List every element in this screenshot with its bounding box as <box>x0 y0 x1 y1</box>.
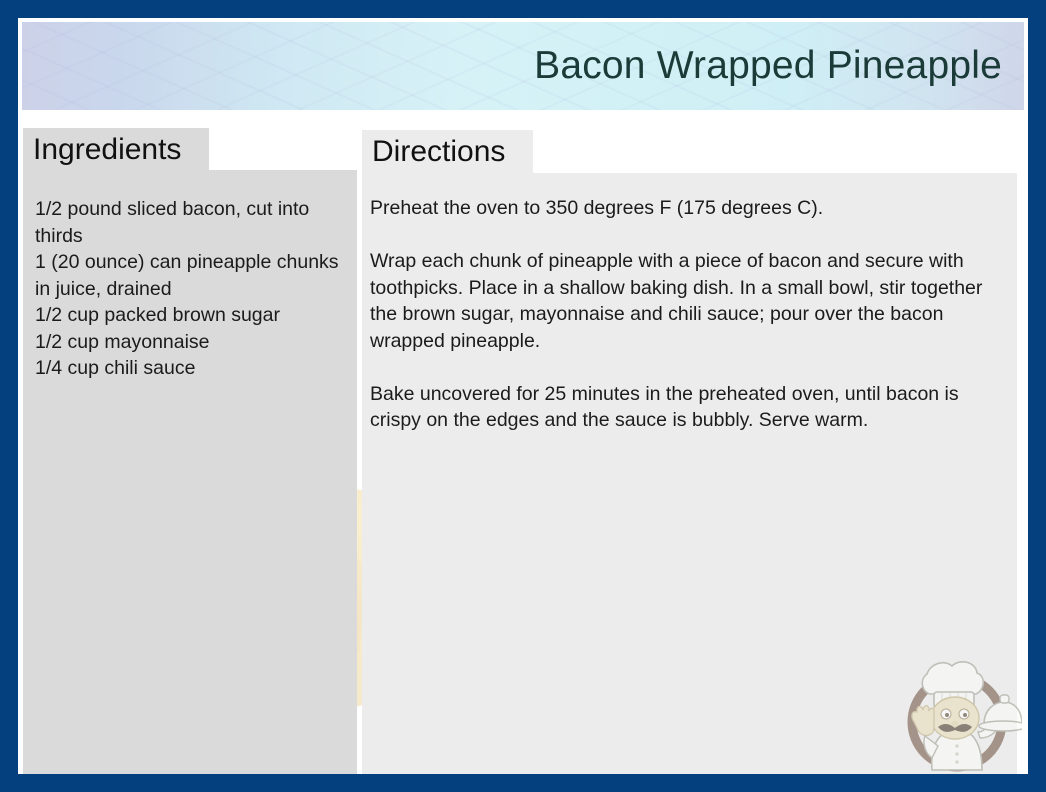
chef-mascot-logo <box>892 642 1022 774</box>
ingredients-list: 1/2 pound sliced bacon, cut into thirds … <box>35 196 345 382</box>
title-banner: Bacon Wrapped Pineapple <box>22 22 1024 110</box>
ingredients-heading: Ingredients <box>23 128 209 172</box>
recipe-slide: Bacon Wrapped Pineapple Ingredients 1/2 … <box>0 0 1046 792</box>
recipe-title: Bacon Wrapped Pineapple <box>534 44 1024 88</box>
directions-heading: Directions <box>362 130 533 174</box>
ingredients-panel: 1/2 pound sliced bacon, cut into thirds … <box>23 170 357 774</box>
directions-text: Preheat the oven to 350 degrees F (175 d… <box>370 195 1003 434</box>
